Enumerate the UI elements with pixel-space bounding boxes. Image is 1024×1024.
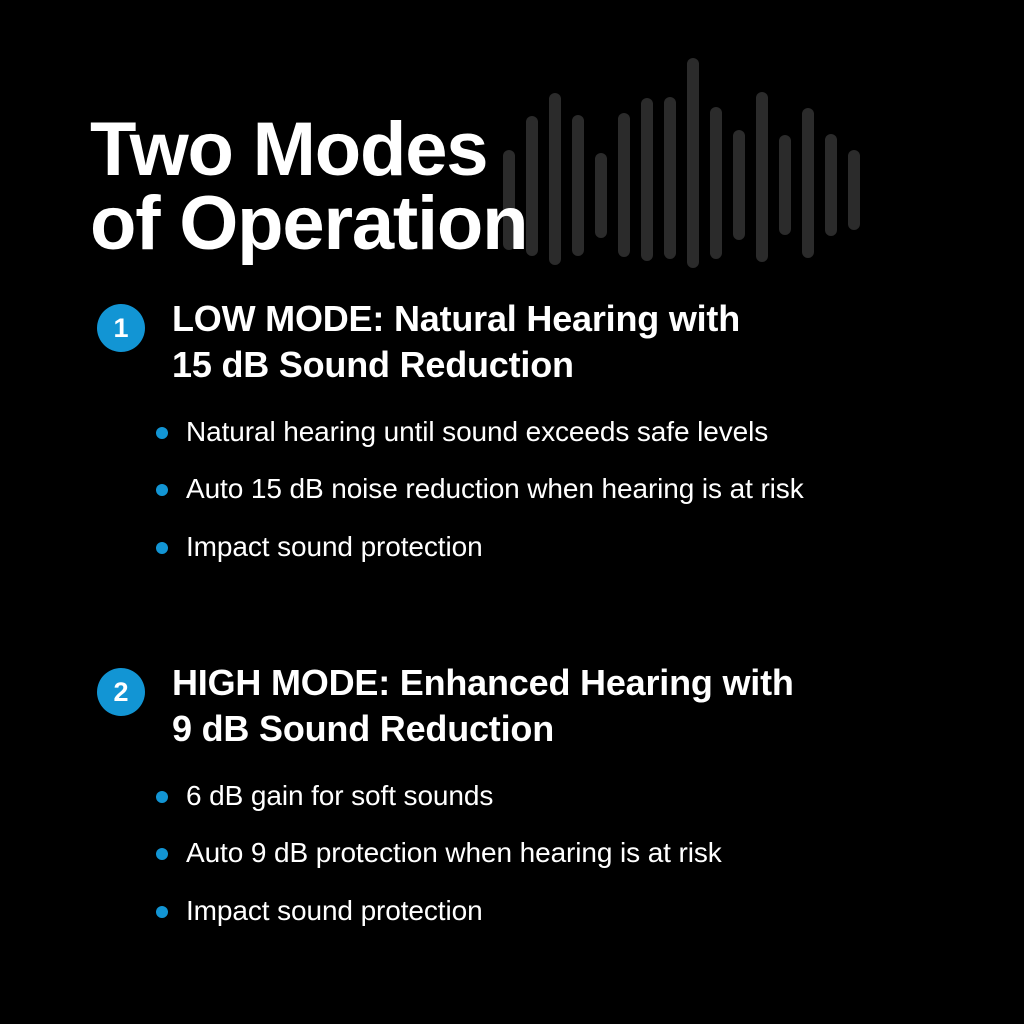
list-item-label: Impact sound protection — [186, 893, 483, 928]
list-item: Impact sound protection — [186, 893, 1024, 928]
waveform-bar — [687, 58, 699, 268]
feature-list-high: 6 dB gain for soft sounds Auto 9 dB prot… — [0, 778, 1024, 928]
list-item-label: Auto 15 dB noise reduction when hearing … — [186, 471, 804, 506]
mode-header: 1 LOW MODE: Natural Hearing with 15 dB S… — [0, 296, 1024, 388]
bullet-dot-icon — [156, 542, 168, 554]
mode-number-badge-2: 2 — [97, 668, 145, 716]
list-item-label: Impact sound protection — [186, 529, 483, 564]
bullet-dot-icon — [156, 484, 168, 496]
infographic-canvas: Two Modes of Operation 1 LOW MODE: Natur… — [0, 0, 1024, 1024]
bullet-dot-icon — [156, 791, 168, 803]
waveform-bar — [756, 92, 768, 262]
waveform-bar — [710, 107, 722, 259]
list-item: Natural hearing until sound exceeds safe… — [186, 414, 1024, 449]
waveform-bar — [802, 108, 814, 258]
list-item-label: Auto 9 dB protection when hearing is at … — [186, 835, 722, 870]
list-item: Auto 9 dB protection when hearing is at … — [186, 835, 1024, 870]
bullet-dot-icon — [156, 848, 168, 860]
waveform-bar — [848, 150, 860, 230]
list-item-label: 6 dB gain for soft sounds — [186, 778, 493, 813]
mode-title-high: HIGH MODE: Enhanced Hearing with 9 dB So… — [172, 660, 1024, 752]
waveform-bar — [664, 97, 676, 259]
list-item: 6 dB gain for soft sounds — [186, 778, 1024, 813]
mode-title-low: LOW MODE: Natural Hearing with 15 dB Sou… — [172, 296, 1024, 388]
page-title: Two Modes of Operation — [90, 113, 650, 262]
feature-list-low: Natural hearing until sound exceeds safe… — [0, 414, 1024, 564]
list-item-label: Natural hearing until sound exceeds safe… — [186, 414, 768, 449]
waveform-bar — [779, 135, 791, 235]
mode-number-badge-1: 1 — [97, 304, 145, 352]
list-item: Impact sound protection — [186, 529, 1024, 564]
mode-header: 2 HIGH MODE: Enhanced Hearing with 9 dB … — [0, 660, 1024, 752]
waveform-bar — [825, 134, 837, 236]
bullet-dot-icon — [156, 427, 168, 439]
mode-section-high: 2 HIGH MODE: Enhanced Hearing with 9 dB … — [0, 660, 1024, 928]
list-item: Auto 15 dB noise reduction when hearing … — [186, 471, 1024, 506]
waveform-bar — [733, 130, 745, 240]
bullet-dot-icon — [156, 906, 168, 918]
mode-section-low: 1 LOW MODE: Natural Hearing with 15 dB S… — [0, 296, 1024, 564]
